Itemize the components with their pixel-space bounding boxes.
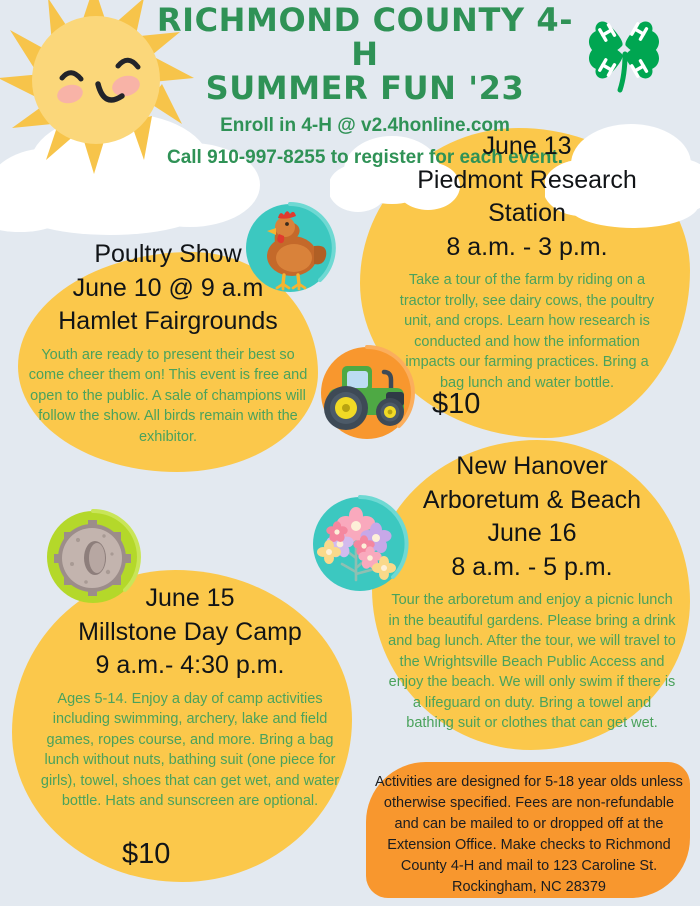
page-title-line1: RICHMOND COUNTY 4-H	[150, 4, 580, 72]
chicken-icon	[238, 196, 342, 300]
page-title-line2: SUMMER FUN '23	[150, 72, 580, 106]
event-price-millstone: $10	[122, 838, 170, 871]
event-heading-line: New Hanover	[388, 450, 676, 484]
event-heading-line: 8 a.m. - 3 p.m.	[392, 231, 662, 265]
event-heading-line: June 13	[392, 130, 662, 164]
event-price-piedmont: $10	[432, 388, 480, 421]
flowers-icon	[304, 488, 416, 600]
policy-note: Activities are designed for 5-18 year ol…	[374, 772, 684, 898]
event-heading-line: June 16	[388, 517, 676, 551]
event-description: Ages 5-14. Enjoy a day of camp activitie…	[30, 689, 350, 812]
millstone-icon	[38, 502, 148, 612]
event-millstone-day-camp: June 15 Millstone Day Camp 9 a.m.- 4:30 …	[30, 582, 350, 812]
event-heading-line: Piedmont Research	[392, 164, 662, 198]
tractor-icon	[312, 338, 422, 448]
event-heading-line: Station	[392, 197, 662, 231]
event-new-hanover-arboretum-beach: New Hanover Arboretum & Beach June 16 8 …	[388, 450, 676, 734]
event-description: Youth are ready to present their best so…	[28, 345, 308, 448]
event-piedmont-research-station: June 13 Piedmont Research Station 8 a.m.…	[392, 130, 662, 393]
event-heading-line: 8 a.m. - 5 p.m.	[388, 551, 676, 585]
event-description: Take a tour of the farm by riding on a t…	[392, 270, 662, 393]
event-heading-line: 9 a.m.- 4:30 p.m.	[30, 649, 350, 683]
four-h-clover-logo	[578, 4, 670, 96]
event-heading-line: Arboretum & Beach	[388, 484, 676, 518]
event-heading-line: Millstone Day Camp	[30, 616, 350, 650]
flyer-canvas: RICHMOND COUNTY 4-H SUMMER FUN '23 Enrol…	[0, 0, 700, 906]
event-description: Tour the arboretum and enjoy a picnic lu…	[388, 590, 676, 734]
event-heading-line: Hamlet Fairgrounds	[28, 305, 308, 339]
